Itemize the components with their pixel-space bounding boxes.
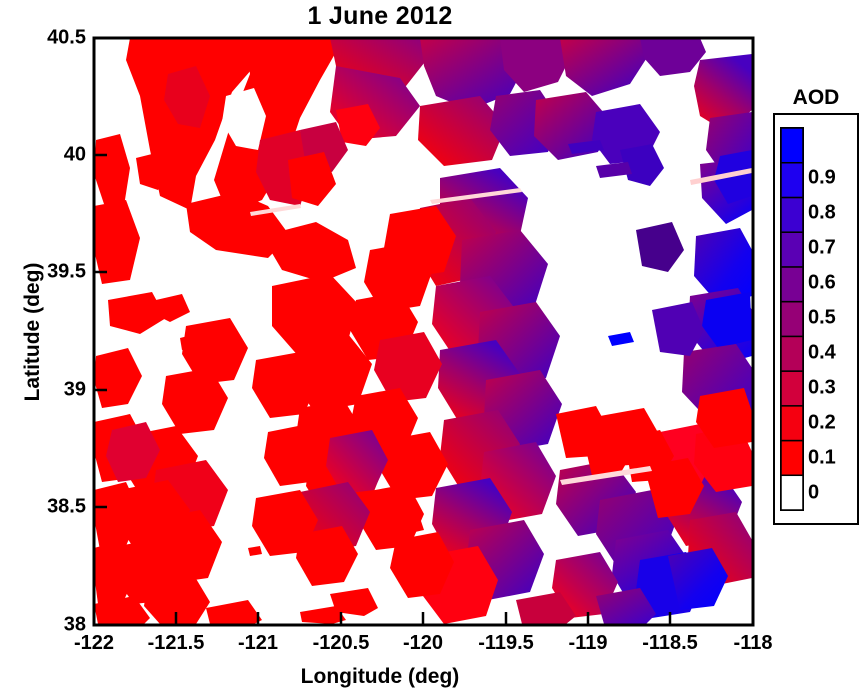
colorbar-tick-label: 0.2 [808, 412, 836, 435]
data-polygons [94, 38, 753, 625]
colorbar-tick-label: 0.9 [808, 167, 836, 190]
y-tick-label: 38 [6, 614, 86, 637]
y-tick-label: 40.5 [6, 27, 86, 50]
y-tick-label: 39.5 [6, 261, 86, 284]
colorbar-segment [781, 475, 803, 510]
y-axis-title: Latitude (deg) [21, 217, 45, 447]
colorbar-segment [781, 406, 803, 441]
colorbar-tick-label: 0.4 [808, 342, 836, 365]
colorbar-tick-label: 0.8 [808, 202, 836, 225]
x-tick-label: -118 [734, 632, 773, 655]
colorbar-segment [781, 128, 803, 163]
colorbar-segment [781, 163, 803, 198]
colorbar-segment [781, 197, 803, 232]
colorbar-segment [781, 441, 803, 476]
colorbar-tick-label: 0.3 [808, 377, 836, 400]
colorbar-segment [781, 371, 803, 406]
y-tick-label: 38.5 [6, 496, 86, 519]
x-tick-label: -121 [238, 632, 278, 655]
x-tick-label: -121.5 [148, 632, 205, 655]
colorbar-title: AOD [768, 86, 864, 110]
colorbar-segment [781, 267, 803, 302]
colorbar-segments [781, 128, 803, 510]
x-axis-title: Longitude (deg) [0, 665, 760, 689]
y-tick-label: 39 [6, 379, 86, 402]
y-tick-label: 40 [6, 144, 86, 167]
colorbar-tick-label: 0.7 [808, 237, 836, 260]
x-tick-label: -120 [403, 632, 443, 655]
x-tick-label: -119 [569, 632, 608, 655]
colorbar-segment [781, 302, 803, 337]
x-tick-label: -120.5 [313, 632, 370, 655]
x-tick-label: -119.5 [478, 632, 534, 655]
colorbar-tick-label: 0.1 [808, 447, 836, 470]
colorbar-tick-label: 0.6 [808, 272, 836, 295]
colorbar-segment [781, 232, 803, 267]
colorbar-tick-label: 0 [808, 482, 819, 505]
map-canvas [0, 0, 864, 700]
x-tick-label: -118.5 [642, 632, 698, 655]
aod-map-figure: 1 June 2012 [0, 0, 864, 700]
colorbar-tick-label: 0.5 [808, 307, 836, 330]
colorbar-segment [781, 336, 803, 371]
